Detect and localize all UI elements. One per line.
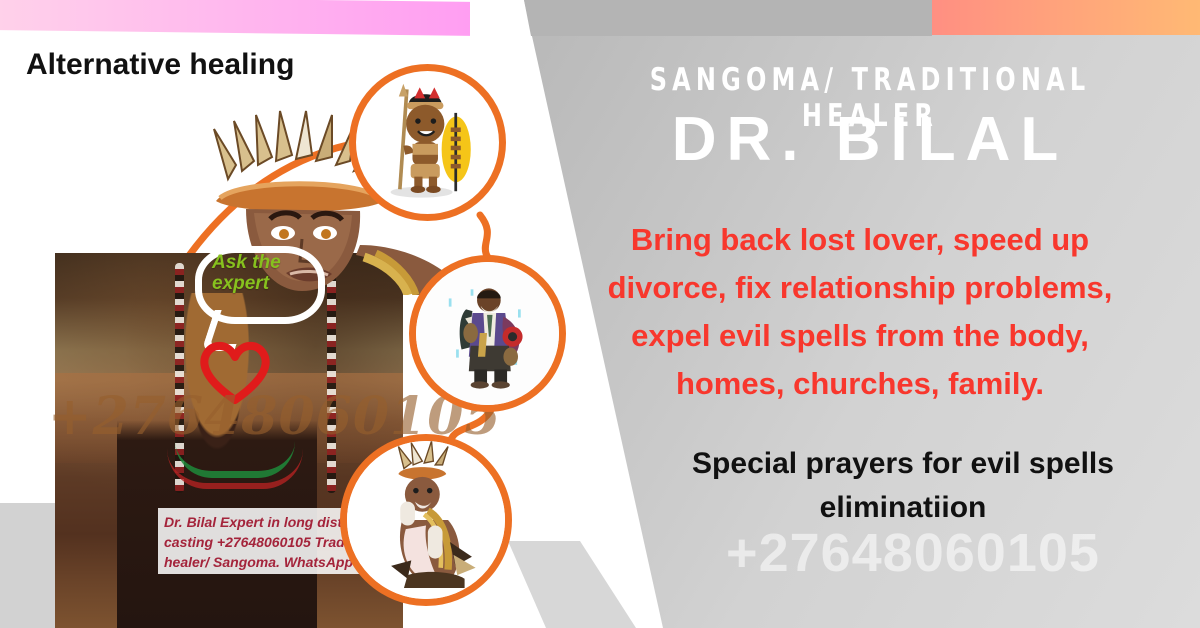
healer-name: DR. BILAL bbox=[560, 104, 1180, 175]
poster-canvas: Alternative healing bbox=[0, 0, 1200, 628]
services-text: Bring back lost lover, speed up divorce,… bbox=[540, 216, 1180, 408]
bead-strand-right-decor bbox=[327, 263, 336, 493]
services-line-4: homes, churches, family. bbox=[540, 360, 1180, 408]
bubble-line-2: expert bbox=[212, 273, 332, 294]
right-watermark-phone: +27648060105 bbox=[640, 522, 1186, 584]
red-necklace-decor bbox=[167, 449, 303, 489]
services-line-3: expel evil spells from the body, bbox=[540, 312, 1180, 360]
zulu-warrior-child-icon bbox=[356, 71, 499, 214]
kneeling-sangoma-icon bbox=[347, 441, 505, 599]
circle-zulu-warrior-child bbox=[349, 64, 506, 221]
prayers-line-1: Special prayers for evil spells bbox=[620, 442, 1186, 486]
services-line-2: divorce, fix relationship problems, bbox=[540, 264, 1180, 312]
bubble-line-1: Ask the bbox=[212, 252, 332, 273]
traditional-healer-with-bag-icon bbox=[416, 262, 559, 405]
orange-accent-strip bbox=[932, 0, 1200, 35]
circle-kneeling-sangoma bbox=[340, 434, 512, 606]
speech-bubble-text: Ask the expert bbox=[212, 252, 332, 294]
services-line-1: Bring back lost lover, speed up bbox=[540, 216, 1180, 264]
prayers-text: Special prayers for evil spells eliminat… bbox=[620, 442, 1186, 530]
